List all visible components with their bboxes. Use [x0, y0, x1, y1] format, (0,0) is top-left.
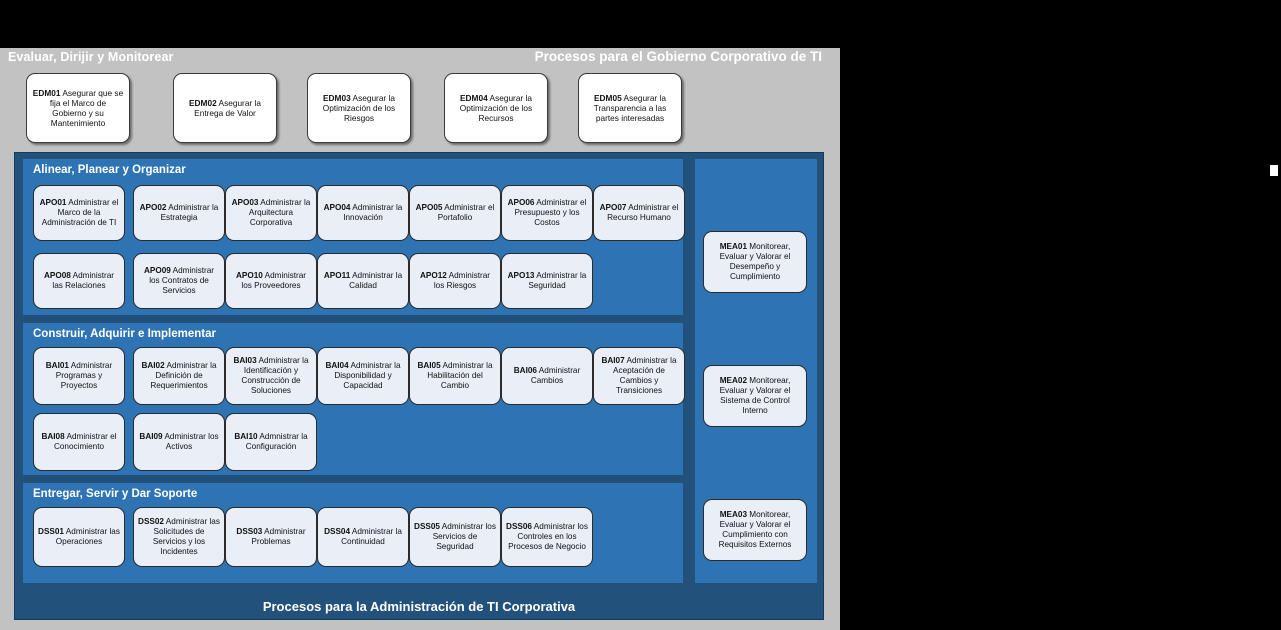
dss-process-box-DSS04[interactable]: DSS04 Administrar la Continuidad	[317, 507, 409, 567]
apo-process-box-APO04[interactable]: APO04 Administrar la Innovación	[317, 185, 409, 241]
process-description: Administrar la Continuidad	[341, 527, 402, 546]
process-code: EDM02	[189, 98, 217, 108]
apo-process-box-APO05[interactable]: APO05 Administrar el Portafolio	[409, 185, 501, 241]
process-code: BAI04	[325, 361, 348, 370]
process-code: DSS03	[236, 527, 262, 536]
bai-process-box-BAI03[interactable]: BAI03 Administrar la Identificación y Co…	[225, 347, 317, 405]
bai-process-box-BAI06[interactable]: BAI06 Administrar Cambios	[501, 347, 593, 405]
process-description: Administrar el Portafolio	[438, 203, 495, 222]
governance-domain-title: Evaluar, Dirijir y Monitorear	[8, 50, 173, 64]
dss-process-box-DSS02[interactable]: DSS02 Administrar las Solicitudes de Ser…	[133, 507, 225, 567]
bai-process-box-BAI07[interactable]: BAI07 Administrar la Aceptación de Cambi…	[593, 347, 685, 405]
process-code: BAI05	[417, 361, 440, 370]
bai-process-box-BAI05[interactable]: BAI05 Administrar la Habilitación del Ca…	[409, 347, 501, 405]
management-banner-label: Procesos para la Administración de TI Co…	[263, 599, 575, 614]
process-code: BAI07	[601, 356, 624, 365]
process-code: APO06	[508, 198, 535, 207]
edm-process-box-EDM01[interactable]: EDM01 Asegurar que se fija el Marco de G…	[26, 73, 130, 143]
management-processes-container: Alinear, Planear y Organizar APO01 Admin…	[14, 152, 824, 620]
apo-panel-title: Alinear, Planear y Organizar	[33, 164, 186, 176]
process-code: MEA03	[720, 510, 747, 519]
process-code: MEA01	[720, 242, 747, 251]
apo-process-box-APO01[interactable]: APO01 Administrar el Marco de la Adminis…	[33, 185, 125, 241]
process-code: APO02	[140, 203, 167, 212]
apo-process-box-APO10[interactable]: APO10 Administrar los Proveedores	[225, 253, 317, 309]
governance-section-title: Procesos para el Gobierno Corporativo de…	[535, 49, 822, 64]
apo-process-box-APO02[interactable]: APO02 Administrar la Estrategia	[133, 185, 225, 241]
dss-panel-title: Entregar, Servir y Dar Soporte	[33, 488, 197, 500]
bai-panel: Construir, Adquirir e Implementar BAI01 …	[23, 323, 683, 475]
mea-process-box-MEA02[interactable]: MEA02 Monitorear, Evaluar y Valorar el S…	[703, 365, 807, 427]
process-code: BAI10	[234, 432, 257, 441]
apo-process-box-APO07[interactable]: APO07 Administrar el Recurso Humano	[593, 185, 685, 241]
process-code: DSS04	[324, 527, 350, 536]
apo-panel: Alinear, Planear y Organizar APO01 Admin…	[23, 159, 683, 315]
process-code: APO10	[236, 271, 263, 280]
bai-process-box-BAI04[interactable]: BAI04 Administrar la Disponibilidad y Ca…	[317, 347, 409, 405]
dss-panel: Entregar, Servir y Dar Soporte DSS01 Adm…	[23, 483, 683, 583]
process-code: DSS06	[506, 522, 532, 531]
apo-process-box-APO13[interactable]: APO13 Administrar la Seguridad	[501, 253, 593, 309]
process-description: Administrar la Seguridad	[528, 271, 586, 290]
edm-process-row: EDM01 Asegurar que se fija el Marco de G…	[0, 73, 840, 145]
bai-panel-title: Construir, Adquirir e Implementar	[33, 328, 216, 340]
process-code: APO12	[420, 271, 447, 280]
apo-process-box-APO09[interactable]: APO09 Administrar los Contratos de Servi…	[133, 253, 225, 309]
process-code: DSS05	[414, 522, 440, 531]
edge-artifact	[1270, 165, 1278, 176]
process-description: Administrar la Arquitectura Corporativa	[249, 198, 310, 227]
dss-process-box-DSS06[interactable]: DSS06 Administrar los Controles en los P…	[501, 507, 593, 567]
process-code: APO01	[40, 198, 67, 207]
process-description: Asegurar que se fija el Marco de Gobiern…	[50, 88, 123, 128]
mea-process-box-MEA01[interactable]: MEA01 Monitorear, Evaluar y Valorar el D…	[703, 231, 807, 293]
process-description: Administrar la Calidad	[349, 271, 402, 290]
bai-process-box-BAI08[interactable]: BAI08 Administrar el Conocimiento	[33, 413, 125, 471]
process-code: DSS02	[138, 517, 164, 526]
apo-process-box-APO06[interactable]: APO06 Administrar el Presupuesto y los C…	[501, 185, 593, 241]
dss-process-box-DSS05[interactable]: DSS05 Administrar los Servicios de Segur…	[409, 507, 501, 567]
process-code: APO05	[416, 203, 443, 212]
process-code: APO09	[144, 266, 171, 275]
process-code: EDM05	[594, 93, 622, 103]
dss-process-box-DSS03[interactable]: DSS03 Administrar Problemas	[225, 507, 317, 567]
process-description: Administrar los Servicios de Seguridad	[433, 522, 496, 551]
process-code: BAI06	[514, 366, 537, 375]
process-code: BAI01	[46, 361, 69, 370]
process-code: EDM01	[33, 88, 61, 98]
apo-process-box-APO08[interactable]: APO08 Administrar las Relaciones	[33, 253, 125, 309]
process-code: MEA02	[720, 376, 747, 385]
mea-panel: MEA01 Monitorear, Evaluar y Valorar el D…	[695, 159, 817, 583]
process-code: APO08	[44, 271, 71, 280]
process-description: Administrar Cambios	[531, 366, 580, 385]
process-description: Administrar la Estrategia	[161, 203, 219, 222]
process-code: APO04	[324, 203, 351, 212]
process-code: APO13	[508, 271, 535, 280]
apo-process-box-APO03[interactable]: APO03 Administrar la Arquitectura Corpor…	[225, 185, 317, 241]
process-code: BAI02	[141, 361, 164, 370]
diagram-canvas: Evaluar, Dirijir y Monitorear Procesos p…	[0, 0, 1281, 630]
process-code: APO11	[324, 271, 350, 280]
apo-process-box-APO12[interactable]: APO12 Administrar los Riesgos	[409, 253, 501, 309]
bai-process-box-BAI10[interactable]: BAI10 Admnistrar la Configuración	[225, 413, 317, 471]
process-description: Administrar los Activos	[163, 432, 219, 451]
process-code: APO03	[232, 198, 259, 207]
top-header-band: Evaluar, Dirijir y Monitorear Procesos p…	[0, 48, 840, 70]
process-code: BAI03	[233, 356, 256, 365]
process-code: EDM04	[460, 93, 488, 103]
process-description: Administrar la Innovación	[343, 203, 402, 222]
bai-process-box-BAI09[interactable]: BAI09 Administrar los Activos	[133, 413, 225, 471]
process-code: BAI08	[41, 432, 64, 441]
dss-process-box-DSS01[interactable]: DSS01 Administrar las Operaciones	[33, 507, 125, 567]
process-code: DSS01	[38, 527, 64, 536]
mea-process-box-MEA03[interactable]: MEA03 Monitorear, Evaluar y Valorar el C…	[703, 499, 807, 561]
edm-process-box-EDM03[interactable]: EDM03 Asegurar la Optimización de los Ri…	[307, 73, 411, 143]
process-code: EDM03	[323, 93, 351, 103]
bai-process-box-BAI02[interactable]: BAI02 Administrar la Definición de Reque…	[133, 347, 225, 405]
process-description: Administrar las Operaciones	[56, 527, 120, 546]
edm-process-box-EDM04[interactable]: EDM04 Asegurar la Optimización de los Re…	[444, 73, 548, 143]
edm-process-box-EDM05[interactable]: EDM05 Asegurar la Transparencia a las pa…	[578, 73, 682, 143]
apo-process-box-APO11[interactable]: APO11 Administrar la Calidad	[317, 253, 409, 309]
bai-process-box-BAI01[interactable]: BAI01 Administrar Programas y Proyectos	[33, 347, 125, 405]
process-code: APO07	[600, 203, 627, 212]
process-code: BAI09	[139, 432, 162, 441]
management-banner: Procesos para la Administración de TI Co…	[14, 592, 824, 620]
edm-process-box-EDM02[interactable]: EDM02 Asegurar la Entrega de Valor	[173, 73, 277, 143]
